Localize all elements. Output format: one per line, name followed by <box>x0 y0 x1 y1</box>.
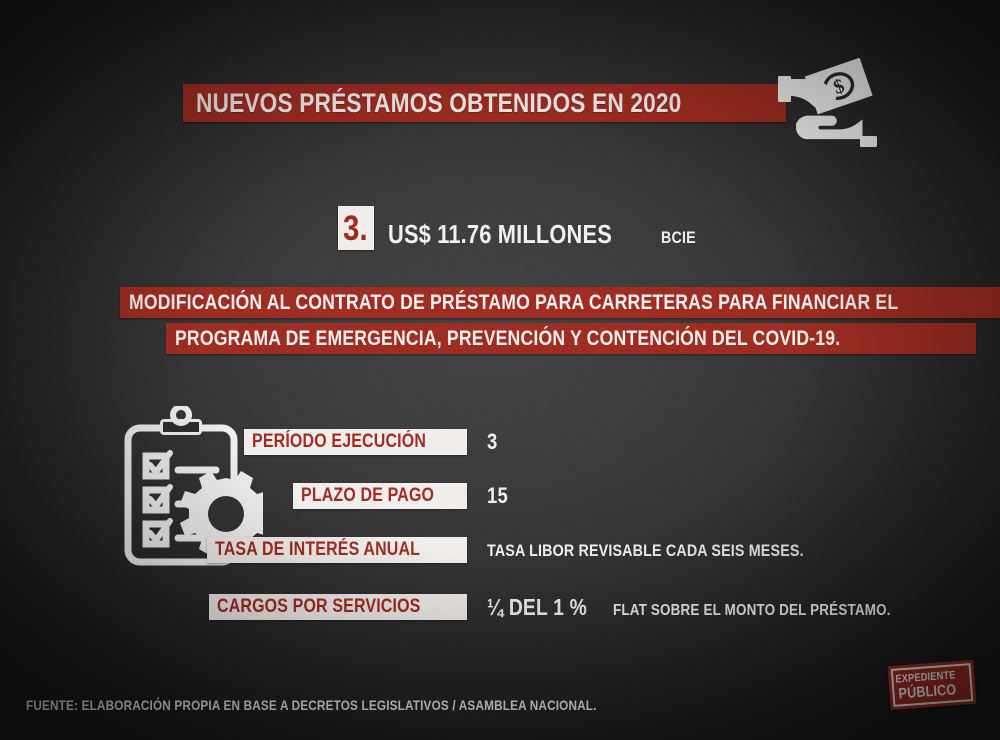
detail-label-wrap: PERÍODO EJECUCIÓN <box>260 429 467 455</box>
detail-value-wrap: ¼ DEL 1 % FLAT SOBRE EL MONTO DEL PRÉSTA… <box>487 596 943 619</box>
detail-label-cargos-por-servicios: CARGOS POR SERVICIOS <box>209 594 467 620</box>
detail-row: PERÍODO EJECUCIÓN 3 <box>260 427 900 457</box>
detail-row: CARGOS POR SERVICIOS ¼ DEL 1 % FLAT SOBR… <box>260 592 900 622</box>
detail-label-tasa-de-interes-anual: TASA DE INTERÉS ANUAL <box>207 537 467 563</box>
detail-value-wrap: TASA LIBOR REVISABLE CADA SEIS MESES. <box>487 542 864 559</box>
logo-border: EXPEDIENTE PÚBLICO <box>891 663 974 707</box>
detail-value-wrap: 15 <box>487 485 512 507</box>
detail-label-wrap: PLAZO DE PAGO <box>260 483 467 509</box>
detail-value-cargos-por-servicios-note: FLAT SOBRE EL MONTO DEL PRÉSTAMO. <box>613 603 891 619</box>
expediente-publico-logo[interactable]: EXPEDIENTE PÚBLICO <box>888 660 977 710</box>
detail-value-plazo-de-pago: 15 <box>487 485 508 507</box>
detail-label-plazo-de-pago: PLAZO DE PAGO <box>293 483 467 509</box>
detail-row: TASA DE INTERÉS ANUAL TASA LIBOR REVISAB… <box>260 535 900 565</box>
detail-value-wrap: 3 <box>487 431 499 453</box>
infographic-canvas: NUEVOS PRÉSTAMOS OBTENIDOS EN 2020 $ <box>0 0 1000 740</box>
detail-label-wrap: TASA DE INTERÉS ANUAL <box>260 537 467 563</box>
logo-text-line-2: PÚBLICO <box>898 682 957 701</box>
detail-row: PLAZO DE PAGO 15 <box>260 481 900 511</box>
detail-value-tasa-de-interes-anual: TASA LIBOR REVISABLE CADA SEIS MESES. <box>487 542 804 559</box>
detail-label-wrap: CARGOS POR SERVICIOS <box>260 594 467 620</box>
detail-value-cargos-por-servicios: ¼ DEL 1 % <box>487 596 587 619</box>
details-list: PERÍODO EJECUCIÓN 3 PLAZO DE PAGO 15 TAS… <box>0 0 1000 740</box>
footer-source-note: FUENTE: ELABORACIÓN PROPIA EN BASE A DEC… <box>26 698 597 712</box>
detail-value-periodo-ejecucion: 3 <box>487 431 497 453</box>
detail-label-periodo-ejecucion: PERÍODO EJECUCIÓN <box>244 429 467 455</box>
